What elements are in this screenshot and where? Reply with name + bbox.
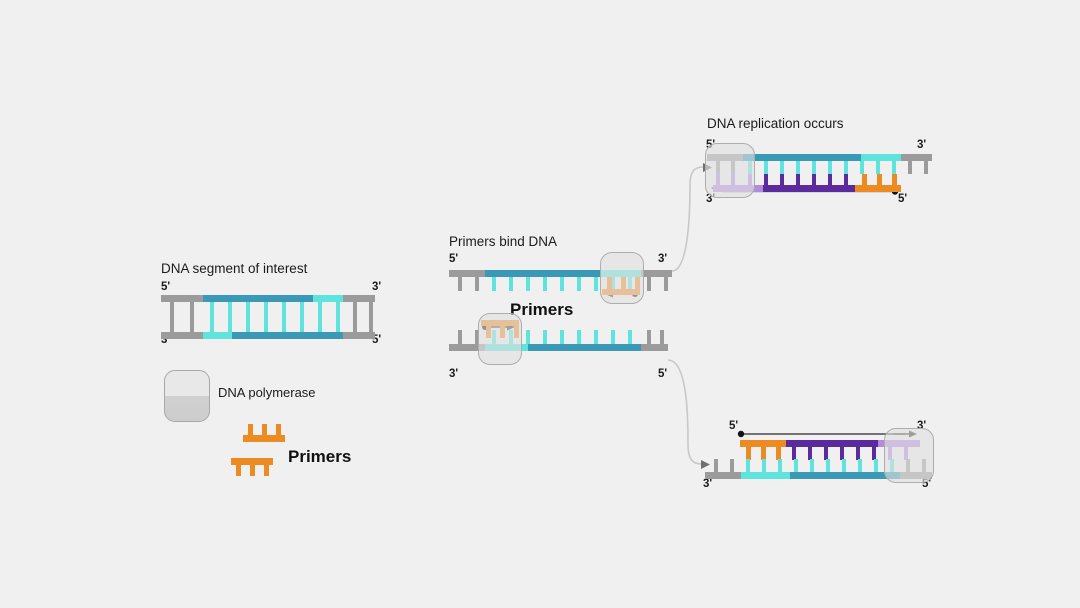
rep-top-tooth [764, 161, 768, 174]
segment-bottom-tooth [170, 317, 174, 332]
rep-top-tooth [876, 161, 880, 174]
segment-top-tooth [228, 302, 232, 317]
rep-top-new-backbone-dark [763, 185, 855, 192]
segment-bottom-tooth [282, 317, 286, 332]
diagram-canvas: DNA segment of interest 5' 3' 3' 5' [0, 0, 1080, 608]
rep-bottom-tooth [874, 459, 878, 472]
rep-top-tooth [796, 161, 800, 174]
segment-top-tooth [210, 302, 214, 317]
legend-primer-backbone [243, 435, 285, 442]
replication-top-label-5prime-right: 5' [898, 193, 907, 205]
segment-top-tooth [264, 302, 268, 317]
rep-bottom-tooth [810, 459, 814, 472]
segment-bottom-tooth [228, 317, 232, 332]
rep-bottom-tooth [746, 459, 750, 472]
bind-upper-tooth [594, 277, 598, 291]
bind-upper-tooth [458, 277, 462, 291]
bind-lower-backbone-right-gray [641, 344, 668, 351]
bind-lower-tooth [611, 330, 615, 344]
bind-lower-tooth [660, 330, 664, 344]
segment-bottom-backbone-left-gray [161, 332, 203, 339]
rep-bottom-tooth [714, 459, 718, 472]
rep-bottom-primer-tooth [776, 446, 781, 460]
segment-bottom-tooth [210, 317, 214, 332]
bind-lower-tooth [458, 330, 462, 344]
segment-bottom-tooth [318, 317, 322, 332]
rep-bottom-tooth [826, 459, 830, 472]
rep-bottom-new-tooth [872, 446, 876, 460]
rep-top-tooth [860, 161, 864, 174]
rep-bottom-primer-tooth [746, 446, 751, 460]
rep-bottom-new-tooth [824, 446, 828, 460]
bind-upper-tooth [492, 277, 496, 291]
rep-top-tooth [780, 161, 784, 174]
bind-lower-tooth [526, 330, 530, 344]
connector-arrow-head-bottom [701, 460, 710, 469]
rep-top-tooth [828, 161, 832, 174]
rep-top-tooth [892, 161, 896, 174]
bind-caption: Primers bind DNA [449, 234, 557, 249]
bind-upper-tooth [577, 277, 581, 291]
bind-upper-tooth [543, 277, 547, 291]
legend-primer-tooth [250, 464, 255, 476]
bind-upper-tooth [475, 277, 479, 291]
rep-bottom-tooth [762, 459, 766, 472]
rep-bottom-new-backbone-dark [786, 440, 878, 447]
rep-top-tooth [924, 161, 928, 174]
segment-top-tooth [282, 302, 286, 317]
segment-bottom-tooth [336, 317, 340, 332]
bind-upper-tooth [647, 277, 651, 291]
bind-upper-backbone-right-gray [641, 270, 672, 277]
replication-bottom-label-3prime-left: 3' [703, 478, 712, 490]
segment-bottom-tooth [300, 317, 304, 332]
segment-bottom-backbone-right-gray [343, 332, 375, 339]
legend-primer-tooth [264, 464, 269, 476]
segment-top-tooth [318, 302, 322, 317]
rep-bottom-primer-tooth [761, 446, 766, 460]
segment-top-tooth [190, 302, 194, 317]
bind-lower-tooth [647, 330, 651, 344]
bind-upper-backbone-teal-overlay [485, 270, 600, 277]
rep-top-backbone-right-gray [901, 154, 932, 161]
rep-bottom-tooth [794, 459, 798, 472]
bind-upper-tooth [664, 277, 668, 291]
bind-lower-tooth [594, 330, 598, 344]
segment-top-tooth [170, 302, 174, 317]
rep-bottom-new-tooth [856, 446, 860, 460]
bind-upper-tooth [526, 277, 530, 291]
segment-top-tooth [353, 302, 357, 317]
segment-top-backbone-left-gray [161, 295, 203, 302]
legend-primer-tooth [236, 464, 241, 476]
bind-label-5prime-lower: 5' [658, 368, 667, 380]
segment-bottom-tooth [264, 317, 268, 332]
segment-top-backbone-teal-overlay [203, 295, 313, 302]
bind-lower-tooth [560, 330, 564, 344]
segment-label-3prime-top: 3' [372, 281, 381, 293]
rep-bottom-new-tooth [840, 446, 844, 460]
rep-bottom-tooth [778, 459, 782, 472]
rep-bottom-tooth [858, 459, 862, 472]
bind-label-3prime-lower: 3' [449, 368, 458, 380]
replication-top-caption: DNA replication occurs [707, 116, 844, 131]
segment-top-tooth [246, 302, 250, 317]
rep-bottom-tooth [730, 459, 734, 472]
rep-top-tooth [844, 161, 848, 174]
replication-bottom-label-5prime-left: 5' [729, 420, 738, 432]
segment-bottom-tooth [369, 317, 373, 332]
legend-polymerase-icon [164, 370, 210, 422]
bind-upper-backbone-left-gray [449, 270, 485, 277]
bind-lower-backbone-teal-overlay [528, 344, 649, 351]
rep-bottom-backbone-left-gray [705, 472, 741, 479]
segment-label-5prime-top: 5' [161, 281, 170, 293]
segment-top-backbone-right-gray [343, 295, 375, 302]
replication-top-label-3prime-right: 3' [917, 139, 926, 151]
bind-lower-tooth [543, 330, 547, 344]
rep-top-backbone-teal-overlay [743, 154, 861, 161]
segment-bottom-tooth [353, 317, 357, 332]
bind-upper-tooth [509, 277, 513, 291]
segment-top-tooth [336, 302, 340, 317]
segment-bottom-tooth [246, 317, 250, 332]
replication-bottom-polymerase [884, 428, 934, 483]
rep-top-tooth [812, 161, 816, 174]
segment-top-tooth [300, 302, 304, 317]
segment-bottom-tooth [190, 317, 194, 332]
segment-top-tooth [369, 302, 373, 317]
rep-bottom-new-tooth [792, 446, 796, 460]
bind-label-3prime-upper: 3' [658, 253, 667, 265]
bind-label-5prime-upper: 5' [449, 253, 458, 265]
rep-top-primer-backbone [855, 185, 901, 192]
connector-line-top [672, 167, 703, 271]
bind-upper-tooth [560, 277, 564, 291]
bind-lower-tooth [577, 330, 581, 344]
replication-top-polymerase [705, 143, 755, 198]
rep-bottom-new-tooth [808, 446, 812, 460]
segment-caption: DNA segment of interest [161, 261, 307, 276]
rep-top-tooth [908, 161, 912, 174]
bind-lower-tooth [628, 330, 632, 344]
bind-upper-polymerase [600, 252, 644, 304]
legend-primers-label: Primers [288, 447, 351, 467]
connector-line-bottom [668, 360, 701, 464]
endpoint-dot-bottom [738, 431, 744, 437]
legend-polymerase-label: DNA polymerase [218, 385, 316, 400]
bind-lower-polymerase [478, 313, 522, 365]
rep-bottom-tooth [842, 459, 846, 472]
